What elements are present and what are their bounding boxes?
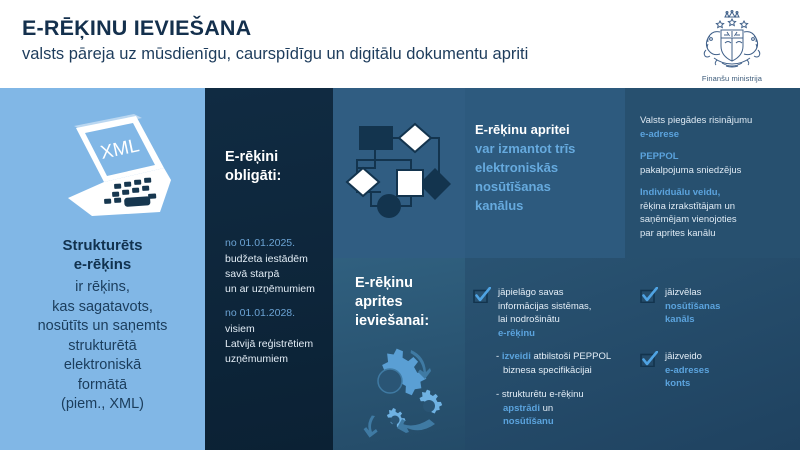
flow-node-square-white <box>397 170 423 196</box>
channel-line: saņēmējam vienojoties <box>640 213 792 227</box>
panel-channels-list: Valsts piegādes risinājumu e-adrese PEPP… <box>625 88 800 258</box>
panel-structured-invoice: XML Strukturēts e-rēķins <box>0 88 205 450</box>
channel-line: pakalpojuma sniedzējus <box>640 164 792 178</box>
channel-line-accent: e-adrese <box>640 128 792 142</box>
date-text-line: visiem <box>225 322 313 337</box>
check-line-accent: nosūtīšanas <box>665 301 720 312</box>
left-body-line: ir rēķins, <box>0 278 205 298</box>
subitem-rest: atbilstoši PEPPOL <box>531 351 611 362</box>
date-text-line: un ar uzņēmumiem <box>225 282 315 297</box>
channels-heading-line4: nosūtīšanas <box>475 177 625 196</box>
panel-mandatory-dates: E-rēķini obligāti: no 01.01.2025. budžet… <box>205 88 333 450</box>
checkbox-checked-icon[interactable] <box>640 351 658 367</box>
channel-item-peppol: PEPPOL pakalpojuma sniedzējus <box>640 150 792 177</box>
left-body-line: strukturētā <box>0 337 205 357</box>
ministry-emblem: Finanšu ministrija <box>684 8 780 84</box>
gears-icon <box>353 340 458 440</box>
channel-line-accent: Individuālu veidu, <box>640 186 792 200</box>
subitem-accent: izveidi <box>502 351 531 362</box>
panel-channels-heading: E-rēķinu apritei var izmantot trīs elekt… <box>465 88 625 258</box>
channel-item-e-adrese: Valsts piegādes risinājumu e-adrese <box>640 114 792 141</box>
date-label: no 01.01.2028. <box>225 306 313 321</box>
mandatory-heading-line1: E-rēķini <box>225 148 281 167</box>
checklist-item-text: jāpielāgo savas informācijas sistēmas, l… <box>498 286 591 340</box>
date-text-line: uzņēmumiem <box>225 352 313 367</box>
check-line-accent: konts <box>665 378 690 389</box>
subitem-accent: apstrādi <box>496 403 540 414</box>
date-block-2028: no 01.01.2028. visiem Latvijā reģistrēti… <box>225 306 313 367</box>
check-line-accent: e-rēķinu <box>498 328 535 339</box>
date-text-line: budžeta iestādēm <box>225 252 315 267</box>
checklist-subitem-processing: - strukturētu e-rēķinu apstrādi un nosūt… <box>496 388 624 429</box>
left-body-line: nosūtīts un saņemts <box>0 317 205 337</box>
left-heading-line1: Strukturēts <box>0 236 205 255</box>
check-line: lai nodrošinātu <box>498 314 560 325</box>
date-text-line: savā starpā <box>225 267 315 282</box>
gear-arrow-bottom <box>397 419 435 433</box>
channels-heading-line2: var izmantot trīs <box>475 139 625 158</box>
left-heading-line2: e-rēķins <box>0 255 205 274</box>
channels-heading-line1: E-rēķinu apritei <box>475 120 625 139</box>
checklist-item-create-account[interactable]: jāizveido e-adreses konts <box>640 350 795 391</box>
page-title: E-RĒĶINU IEVIEŠANA <box>22 16 251 41</box>
panel-flow-diagram <box>333 88 465 258</box>
checklist-subitem-peppol: - izveidi atbilstoši PEPPOL biznesa spec… <box>496 350 624 377</box>
channel-line: Valsts piegādes risinājumu <box>640 114 792 128</box>
flow-node-circle <box>377 194 401 218</box>
channel-line-accent: PEPPOL <box>640 150 792 164</box>
mandatory-heading-line2: obligāti: <box>225 167 281 186</box>
left-body-line: (piem., XML) <box>0 395 205 415</box>
subitem-rest: un <box>540 403 553 414</box>
date-text-line: Latvijā reģistrētiem <box>225 337 313 352</box>
check-line-accent: kanāls <box>665 314 695 325</box>
date-block-2025: no 01.01.2025. budžeta iestādēm savā sta… <box>225 236 315 297</box>
mandatory-heading: E-rēķini obligāti: <box>225 148 281 186</box>
header: E-RĒĶINU IEVIEŠANA valsts pāreja uz mūsd… <box>0 0 800 88</box>
flow-node-rect <box>359 126 393 150</box>
page-subtitle: valsts pāreja uz mūsdienīgu, caurspīdīgu… <box>22 45 528 64</box>
laptop-xml-icon: XML <box>38 106 172 226</box>
left-panel-body: ir rēķins, kas sagatavots, nosūtīts un s… <box>0 278 205 415</box>
date-label: no 01.01.2025. <box>225 236 315 251</box>
gear-medium-hole <box>423 400 435 412</box>
check-line: informācijas sistēmas, <box>498 301 591 312</box>
checkbox-checked-icon[interactable] <box>473 287 491 303</box>
checkbox-checked-icon[interactable] <box>640 287 658 303</box>
channels-heading-line3: elektroniskās <box>475 158 625 177</box>
implementation-heading-line1: E-rēķinu <box>355 274 429 293</box>
check-line: jāizveido <box>665 351 702 362</box>
checklist-item-choose-channel[interactable]: jāizvēlas nosūtīšanas kanāls <box>640 286 795 327</box>
emblem-caption: Finanšu ministrija <box>684 74 780 83</box>
checklist-item-text: jāizveido e-adreses konts <box>665 350 709 391</box>
subitem-rest: strukturētu e-rēķinu <box>502 389 584 400</box>
channel-line: rēķina izrakstītājam un <box>640 200 792 214</box>
left-panel-heading: Strukturēts e-rēķins <box>0 236 205 274</box>
flow-node-diamond-white <box>399 124 431 152</box>
left-body-line: formātā <box>0 376 205 396</box>
channels-heading-line5: kanālus <box>475 196 625 215</box>
checklist-item-text: jāizvēlas nosūtīšanas kanāls <box>665 286 720 327</box>
subitem-rest: biznesa specifikācijai <box>496 365 592 376</box>
check-line: jāpielāgo savas <box>498 287 564 298</box>
left-body-line: kas sagatavots, <box>0 298 205 318</box>
panel-implementation-heading: E-rēķinu aprites ieviešanai: <box>333 258 465 450</box>
channel-item-individual: Individuālu veidu, rēķina izrakstītājam … <box>640 186 792 240</box>
latvia-coat-of-arms-icon <box>684 8 780 74</box>
channels-heading: E-rēķinu apritei var izmantot trīs elekt… <box>475 120 625 215</box>
gear-small-hole <box>391 416 400 425</box>
flowchart-diagram-icon <box>345 116 455 224</box>
implementation-heading-line2: aprites <box>355 293 429 312</box>
infographic-root: E-RĒĶINU IEVIEŠANA valsts pāreja uz mūsd… <box>0 0 800 450</box>
gear-arrow-left <box>364 416 378 438</box>
subitem-accent: nosūtīšanu <box>496 416 554 427</box>
check-line-accent: e-adreses <box>665 365 709 376</box>
checklist-item-adapt-systems[interactable]: jāpielāgo savas informācijas sistēmas, l… <box>473 286 623 340</box>
channel-line: par aprites kanālu <box>640 227 792 241</box>
implementation-heading-line3: ieviešanai: <box>355 312 429 331</box>
left-body-line: elektroniskā <box>0 356 205 376</box>
implementation-heading: E-rēķinu aprites ieviešanai: <box>355 274 429 331</box>
check-line: jāizvēlas <box>665 287 701 298</box>
